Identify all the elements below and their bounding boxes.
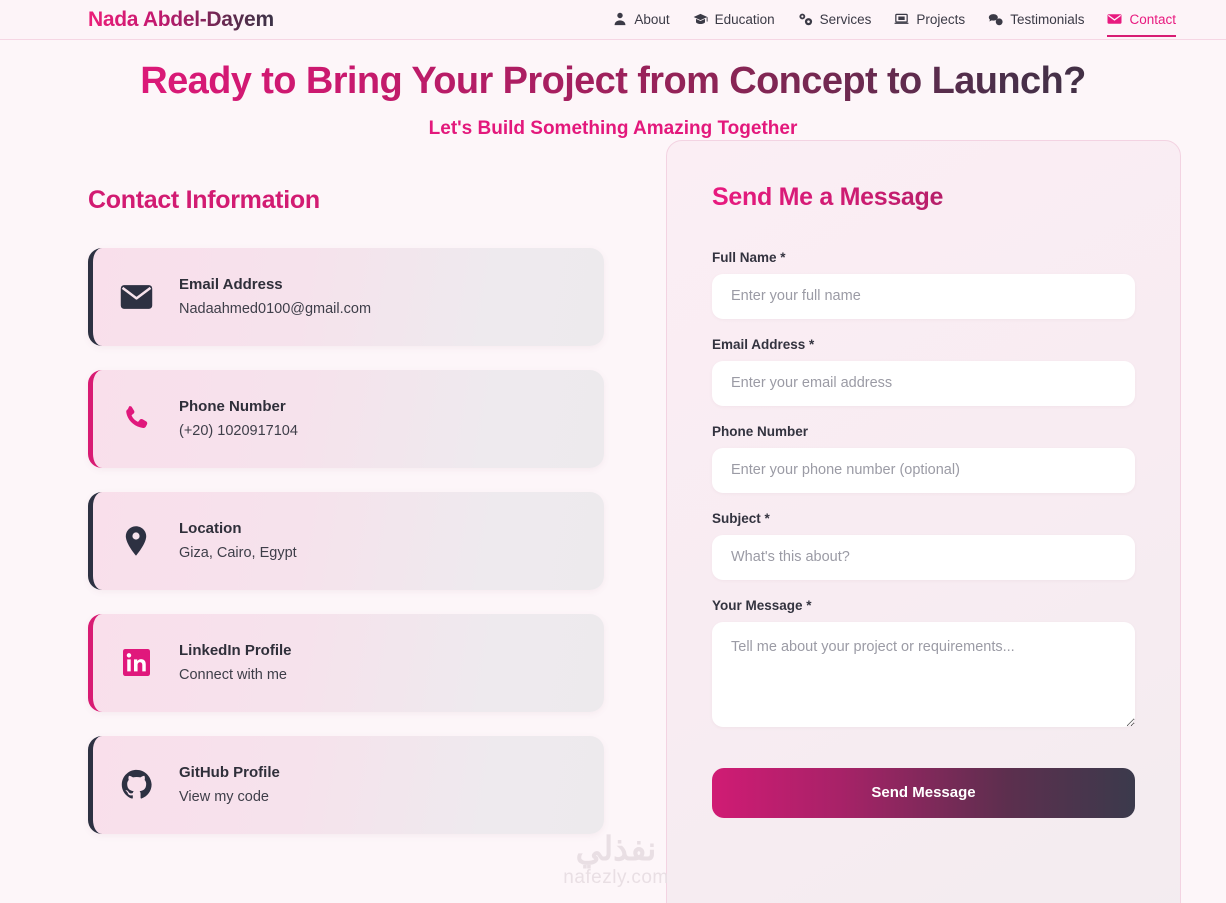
content-area: Contact Information Email Address Nadaah… <box>0 140 1226 903</box>
form-label-message: Your Message * <box>712 598 1135 613</box>
nav-item-services[interactable]: Services <box>798 3 872 37</box>
phone-icon <box>115 404 157 433</box>
form-label-subject: Subject * <box>712 511 1135 526</box>
message-form-panel: Send Me a Message Full Name * Email Addr… <box>666 140 1181 903</box>
site-header: Nada Abdel-Dayem About Education <box>0 0 1226 40</box>
contact-card-title: LinkedIn Profile <box>179 642 292 659</box>
hero-section: Ready to Bring Your Project from Concept… <box>0 40 1226 140</box>
nav-label-services: Services <box>820 12 872 27</box>
email-input[interactable] <box>712 361 1135 406</box>
contact-card-value: View my code <box>179 789 280 805</box>
form-field-email: Email Address * <box>712 337 1135 406</box>
contact-information-column: Contact Information Email Address Nadaah… <box>88 186 604 858</box>
contact-card-github[interactable]: GitHub Profile View my code <box>88 736 604 834</box>
page-subtitle: Let's Build Something Amazing Together <box>0 118 1226 140</box>
contact-card-title: GitHub Profile <box>179 764 280 781</box>
nav-item-about[interactable]: About <box>612 3 669 37</box>
form-label-phone: Phone Number <box>712 424 1135 439</box>
form-title: Send Me a Message <box>712 183 1135 212</box>
form-label-full-name: Full Name * <box>712 250 1135 265</box>
nav-item-contact[interactable]: Contact <box>1107 3 1176 37</box>
chat-bubbles-icon <box>988 12 1003 27</box>
contact-card-value: Connect with me <box>179 667 292 683</box>
form-field-phone: Phone Number <box>712 424 1135 493</box>
contact-card-title: Email Address <box>179 276 371 293</box>
contact-card-text: Email Address Nadaahmed0100@gmail.com <box>179 276 371 317</box>
form-field-message: Your Message * <box>712 598 1135 732</box>
contact-card-text: Location Giza, Cairo, Egypt <box>179 520 297 561</box>
laptop-icon <box>894 12 909 27</box>
map-pin-icon <box>115 525 157 557</box>
nav-label-projects: Projects <box>916 12 965 27</box>
send-message-button[interactable]: Send Message <box>712 768 1135 818</box>
brand-logo[interactable]: Nada Abdel-Dayem <box>88 8 274 32</box>
graduation-cap-icon <box>693 12 708 27</box>
phone-input[interactable] <box>712 448 1135 493</box>
form-field-subject: Subject * <box>712 511 1135 580</box>
envelope-icon <box>115 284 157 310</box>
main-navigation: About Education Services <box>612 3 1176 37</box>
nav-label-testimonials: Testimonials <box>1010 12 1084 27</box>
person-icon <box>612 12 627 27</box>
contact-card-value: (+20) 1020917104 <box>179 423 298 439</box>
contact-card-title: Location <box>179 520 297 537</box>
nav-item-projects[interactable]: Projects <box>894 3 965 37</box>
contact-card-text: GitHub Profile View my code <box>179 764 280 805</box>
nav-label-about: About <box>634 12 669 27</box>
contact-card-value: Giza, Cairo, Egypt <box>179 545 297 561</box>
contact-card-text: LinkedIn Profile Connect with me <box>179 642 292 683</box>
message-textarea[interactable] <box>712 622 1135 727</box>
contact-card-linkedin[interactable]: LinkedIn Profile Connect with me <box>88 614 604 712</box>
contact-card-phone[interactable]: Phone Number (+20) 1020917104 <box>88 370 604 468</box>
cogs-icon <box>798 12 813 27</box>
contact-card-text: Phone Number (+20) 1020917104 <box>179 398 298 439</box>
nav-label-education: Education <box>715 12 775 27</box>
full-name-input[interactable] <box>712 274 1135 319</box>
page-title: Ready to Bring Your Project from Concept… <box>0 60 1226 104</box>
nav-item-education[interactable]: Education <box>693 3 775 37</box>
contact-card-value: Nadaahmed0100@gmail.com <box>179 301 371 317</box>
contact-card-location[interactable]: Location Giza, Cairo, Egypt <box>88 492 604 590</box>
github-icon <box>115 769 157 800</box>
nav-item-testimonials[interactable]: Testimonials <box>988 3 1084 37</box>
contact-card-email[interactable]: Email Address Nadaahmed0100@gmail.com <box>88 248 604 346</box>
form-field-full-name: Full Name * <box>712 250 1135 319</box>
linkedin-icon <box>115 649 157 676</box>
envelope-icon <box>1107 12 1122 27</box>
contact-information-title: Contact Information <box>88 186 604 215</box>
subject-input[interactable] <box>712 535 1135 580</box>
contact-card-title: Phone Number <box>179 398 298 415</box>
form-label-email: Email Address * <box>712 337 1135 352</box>
nav-label-contact: Contact <box>1129 12 1176 27</box>
